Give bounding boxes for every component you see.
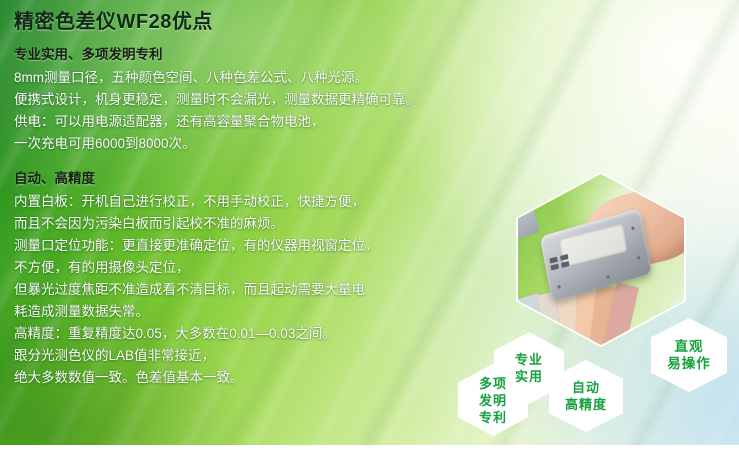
section-line: 而且不会因为污染白板而引起校不准的麻烦。 [14, 213, 484, 235]
device-keypad [549, 253, 575, 277]
section-line: 测量口定位功能：更直接更准确定位，有的仪器用视窗定位， [14, 235, 484, 257]
section-line: 不方便，有的用摄像头定位， [14, 257, 484, 279]
feature-text-column: 精密色差仪WF28优点 专业实用、多项发明专利 8mm测量口径，五种颜色空间、八… [14, 10, 484, 391]
badge-intuitive-easy-operation[interactable]: 直观 易操作 [651, 318, 727, 392]
badge-line: 高精度 [565, 396, 607, 413]
feature-section-professional: 专业实用、多项发明专利 8mm测量口径，五种颜色空间、八种色差公式、八种光源。 … [14, 45, 484, 155]
badge-line: 实用 [515, 368, 543, 385]
badge-label: 多项 发明 专利 [479, 375, 507, 426]
section-line: 供电：可以用电源适配器，还有高容量聚合物电池， [14, 111, 484, 133]
badge-line: 专业 [515, 351, 543, 368]
section-line: 耗造成测量数据失常。 [14, 301, 484, 323]
section-line: 一次充电可用6000到8000次。 [14, 133, 484, 155]
badge-label: 自动 高精度 [565, 379, 607, 413]
badge-label: 直观 易操作 [667, 338, 711, 372]
page-title: 精密色差仪WF28优点 [14, 10, 484, 34]
badge-line: 专利 [479, 409, 507, 426]
section-line: 跟分光测色仪的LAB值非常接近， [14, 345, 484, 367]
section-line: 内置白板：开机自己进行校正，不用手动校正，快捷方便， [14, 191, 484, 213]
product-feature-banner: 精密色差仪WF28优点 专业实用、多项发明专利 8mm测量口径，五种颜色空间、八… [0, 0, 739, 452]
section-line: 高精度：重复精度达0.05，大多数在0.01—0.03之间。 [14, 323, 484, 345]
badge-line: 直观 [667, 338, 711, 355]
section-line: 便携式设计，机身更稳定，测量时不会漏光，测量数据更精确可靠。 [14, 89, 484, 111]
badge-label: 专业 实用 [515, 351, 543, 385]
bottom-white-strip [0, 445, 739, 452]
badge-line: 自动 [565, 379, 607, 396]
badge-automatic-high-precision[interactable]: 自动 高精度 [549, 360, 623, 432]
section-line: 但暴光过度焦距不准造成看不清目标，而且起动需要大量电 [14, 279, 484, 301]
section-heading: 专业实用、多项发明专利 [14, 45, 484, 65]
badge-line: 发明 [479, 392, 507, 409]
section-line: 绝大多数数值一致。色差值基本一致。 [14, 367, 484, 389]
section-line: 8mm测量口径，五种颜色空间、八种色差公式、八种光源。 [14, 67, 484, 89]
feature-section-automatic: 自动、高精度 内置白板：开机自己进行校正，不用手动校正，快捷方便， 而且不会因为… [14, 169, 484, 389]
badge-line: 多项 [479, 375, 507, 392]
badge-line: 易操作 [667, 355, 711, 372]
section-spacer [14, 157, 484, 169]
section-heading: 自动、高精度 [14, 169, 484, 189]
